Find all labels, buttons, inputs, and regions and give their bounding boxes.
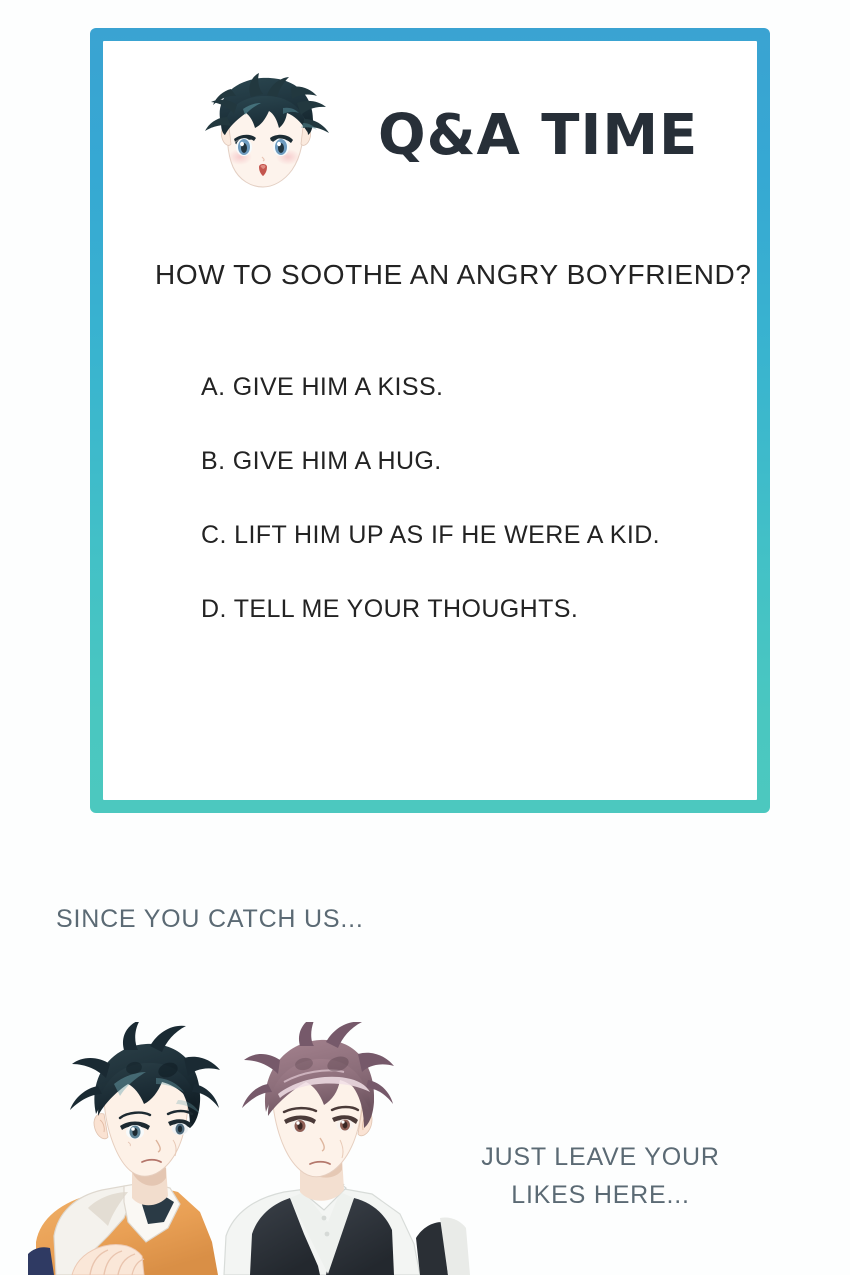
caption-right-line-2: LIKES HERE...: [478, 1176, 723, 1214]
qa-card-inner: Q&A TIME HOW TO SOOTHE AN ANGRY BOYFRIEN…: [103, 41, 757, 800]
qa-header: Q&A TIME: [103, 41, 757, 221]
caption-since-you-catch-us: SINCE YOU CATCH US...: [56, 905, 364, 934]
answer-option-a[interactable]: A. GIVE HIM A KISS.: [201, 373, 761, 402]
answer-options-list: A. GIVE HIM A KISS. B. GIVE HIM A HUG. C…: [201, 373, 761, 624]
answer-option-c[interactable]: C. LIFT HIM UP AS IF HE WERE A KID.: [201, 521, 761, 550]
comic-page: Q&A TIME HOW TO SOOTHE AN ANGRY BOYFRIEN…: [0, 0, 850, 1275]
question-text: HOW TO SOOTHE AN ANGRY BOYFRIEND?: [155, 259, 752, 291]
two-boys-illustration: [28, 1022, 478, 1275]
chibi-face-avatar: [191, 65, 343, 201]
qa-card: Q&A TIME HOW TO SOOTHE AN ANGRY BOYFRIEN…: [90, 28, 770, 813]
answer-option-b[interactable]: B. GIVE HIM A HUG.: [201, 447, 761, 476]
page-title: Q&A TIME: [378, 103, 698, 168]
caption-right-line-1: JUST LEAVE YOUR: [478, 1138, 723, 1176]
answer-option-d[interactable]: D. TELL ME YOUR THOUGHTS.: [201, 595, 761, 624]
caption-just-leave-your-likes: JUST LEAVE YOUR LIKES HERE...: [478, 1138, 723, 1214]
